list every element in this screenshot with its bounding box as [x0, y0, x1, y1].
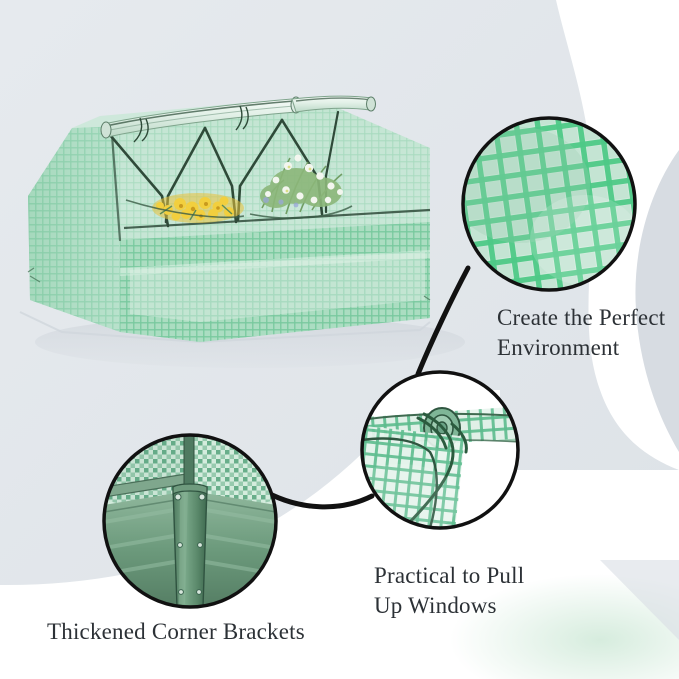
callout-label-create-perfect-environment: Create the Perfect Environment — [497, 303, 677, 364]
callout-practical-pull-up-windows[interactable] — [340, 372, 526, 546]
corner-bracket-post — [173, 484, 207, 607]
mini-greenhouse-product-photo — [20, 96, 430, 342]
greenhouse-left-mesh — [28, 126, 120, 332]
connector-window-to-bracket — [266, 492, 372, 507]
callout-label-thickened-corner-brackets: Thickened Corner Brackets — [47, 617, 357, 647]
callout-thickened-corner-brackets[interactable] — [104, 435, 276, 607]
mesh-highlight — [530, 195, 640, 285]
plants-yellow-flowers — [152, 193, 244, 223]
infographic-canvas: Create the Perfect Environment Practical… — [0, 0, 679, 679]
bracket-gray-wedge — [262, 435, 276, 470]
callout-label-practical-pull-up-windows: Practical to Pull Up Windows — [374, 561, 589, 622]
callout-create-perfect-environment[interactable] — [426, 79, 679, 339]
